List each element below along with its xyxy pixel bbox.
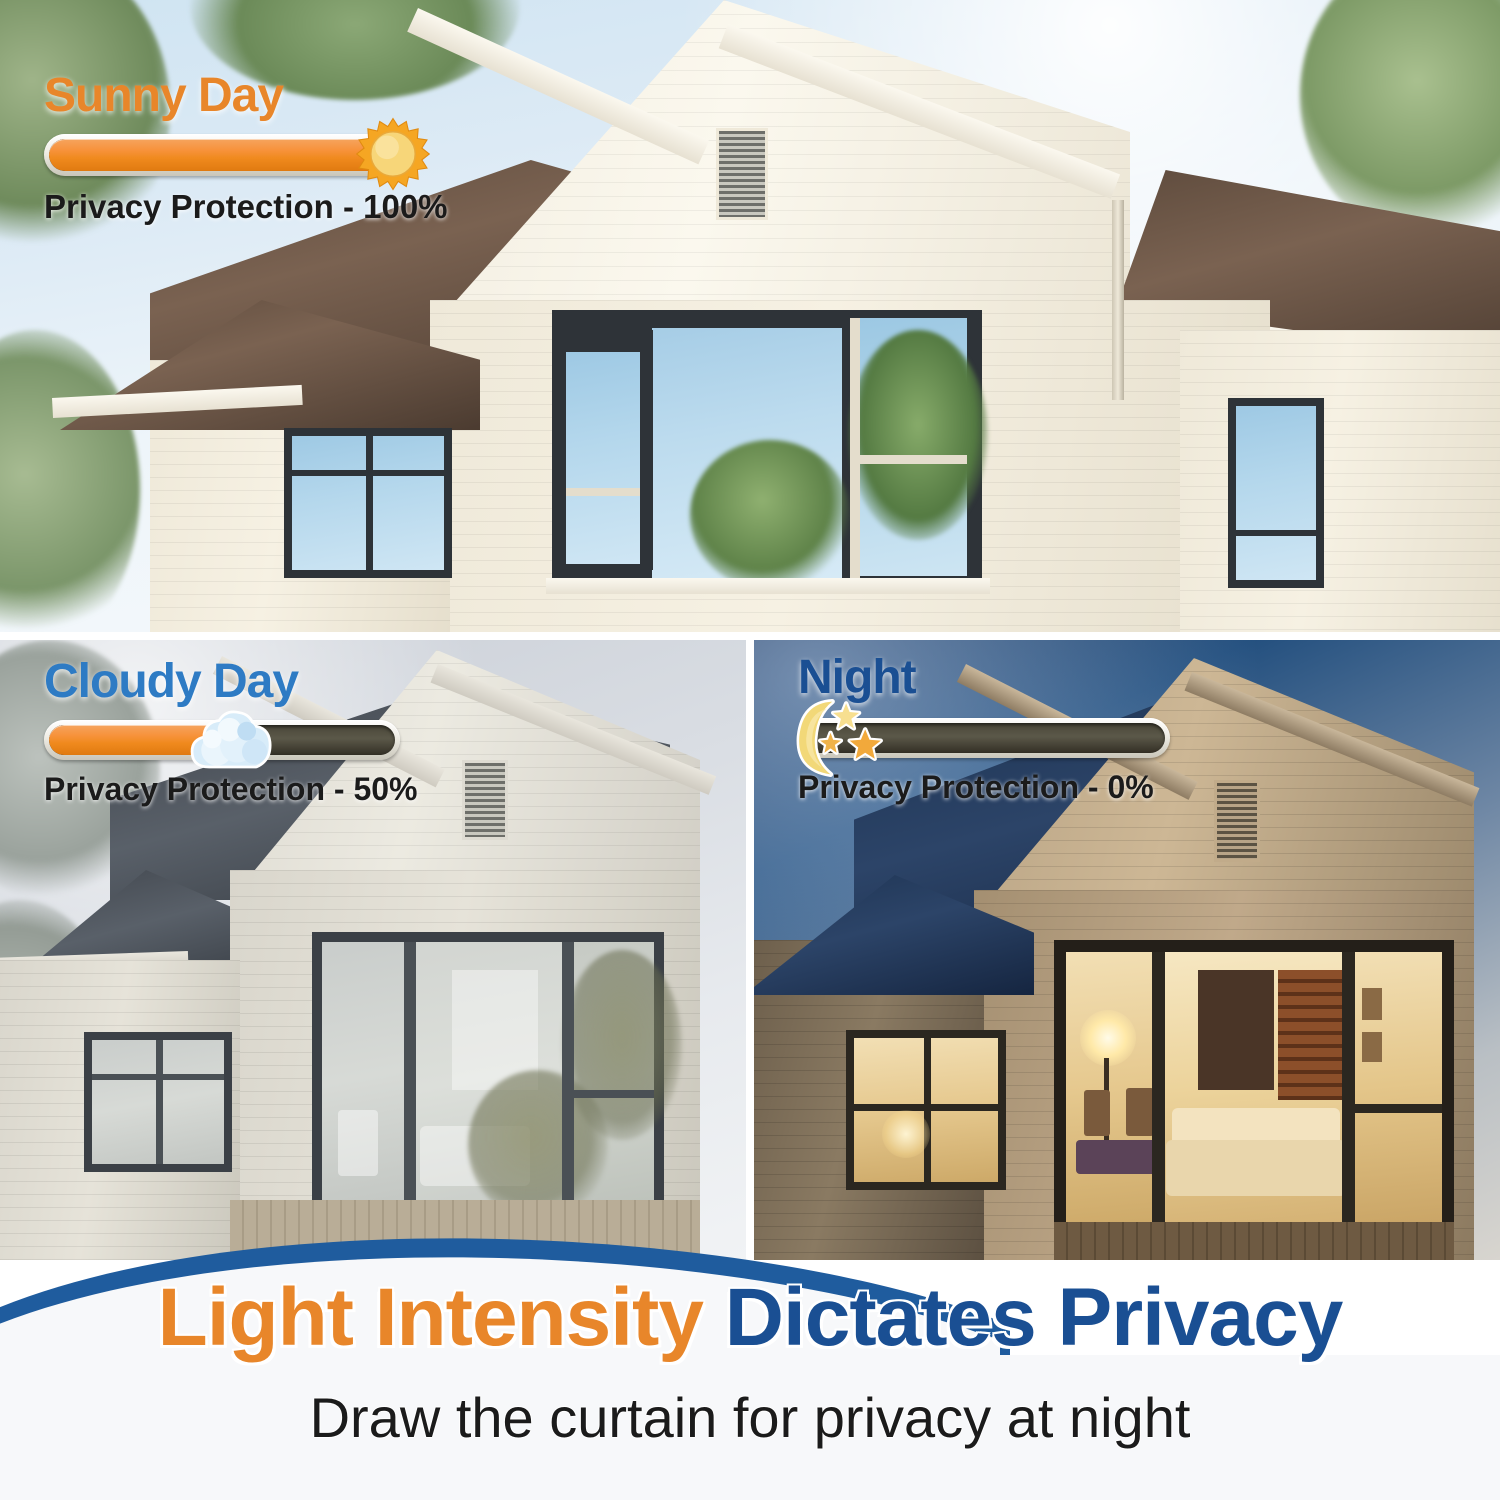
panel-sunny-day: Sunny Day Privacy Protection - [0, 0, 1500, 632]
window-right-mullion-h [1236, 530, 1316, 536]
privacy-bar-fill-cloudy [49, 725, 222, 755]
badge-cloudy: Cloudy Day [44, 658, 464, 805]
window-picture-glass-left [566, 352, 640, 564]
badge-title-sunny: Sunny Day [44, 72, 464, 120]
interior-sofa-seat [1166, 1140, 1346, 1196]
window-night-mullion-2 [1342, 952, 1355, 1228]
badge-caption-cloudy: Privacy Protection - 50% [44, 773, 464, 805]
window-mullion-left-vertical [640, 330, 653, 570]
window-night-mullion-h [1354, 1104, 1442, 1113]
interior-ottoman [1076, 1140, 1158, 1174]
window-sill-picture [546, 578, 990, 594]
privacy-bar-fill-sunny [49, 139, 389, 171]
interior-dark-doorway [1198, 970, 1274, 1090]
window-cloudy-left-mullion-v [156, 1040, 163, 1164]
window-mullion-right-horizontal [855, 455, 967, 464]
window-cloudy-mullion-2 [562, 942, 574, 1212]
caption-band: Light Intensity Dictates Privacy Draw th… [0, 1205, 1500, 1500]
window-cloudy-mullion-1 [404, 942, 416, 1212]
interior-picture-frame [1362, 988, 1382, 1020]
panel-cloudy-day: Cloudy Day [0, 640, 746, 1260]
gable-cloudy-vent [462, 760, 508, 840]
reflected-tree-cloudy-right [562, 950, 682, 1140]
window-mullion-right-vertical [850, 318, 860, 578]
reflected-tree-right [848, 330, 988, 540]
interior-picture-frame-2 [1362, 1032, 1382, 1062]
window-night-mullion-1 [1152, 952, 1165, 1228]
downspout [1112, 200, 1124, 400]
lamp-glow-left-window [882, 1110, 930, 1158]
badge-caption-night: Privacy Protection - 0% [798, 771, 1218, 803]
privacy-bar-sunny[interactable] [44, 134, 394, 176]
badge-night: Night [798, 654, 1218, 803]
window-right-glass [1236, 406, 1316, 580]
interior-hint-chair [338, 1110, 378, 1176]
badge-sunny: Sunny Day Privacy Protection - [44, 72, 464, 223]
window-mullion-left-horizontal [566, 488, 640, 496]
window-night-left-mullion-h [854, 1104, 998, 1111]
panel-night: Night [754, 640, 1500, 1260]
image-canvas: Sunny Day Privacy Protection - [0, 0, 1500, 1500]
badge-title-night: Night [798, 654, 1218, 702]
privacy-bar-night[interactable] [798, 718, 1170, 758]
window-cloudy-left-mullion-h [92, 1074, 224, 1080]
badge-caption-sunny: Privacy Protection - 100% [44, 190, 464, 223]
window-left-mullion-v [366, 436, 373, 570]
privacy-bar-track-night [803, 723, 1165, 753]
interior-chair-right [1126, 1088, 1154, 1136]
caption-text-wrap: Light Intensity Dictates Privacy Draw th… [0, 1205, 1500, 1500]
window-cloudy-mullion-h [572, 1090, 654, 1098]
reflected-tree-center [690, 440, 850, 590]
window-left-mullion-h [292, 470, 444, 476]
badge-title-cloudy: Cloudy Day [44, 658, 464, 706]
gable-night-vent [1214, 780, 1260, 862]
headline-part-2: Dictates Privacy [725, 1272, 1343, 1363]
headline: Light Intensity Dictates Privacy [0, 1277, 1500, 1359]
privacy-bar-track-sunny [49, 139, 389, 171]
gable-vent [716, 128, 768, 220]
headline-part-1: Light Intensity [158, 1272, 703, 1363]
privacy-bar-track-cloudy [49, 725, 395, 755]
interior-chair-left [1084, 1090, 1110, 1136]
subline: Draw the curtain for privacy at night [0, 1390, 1500, 1446]
privacy-bar-cloudy[interactable] [44, 720, 400, 760]
interior-stair-slats [1278, 970, 1342, 1100]
